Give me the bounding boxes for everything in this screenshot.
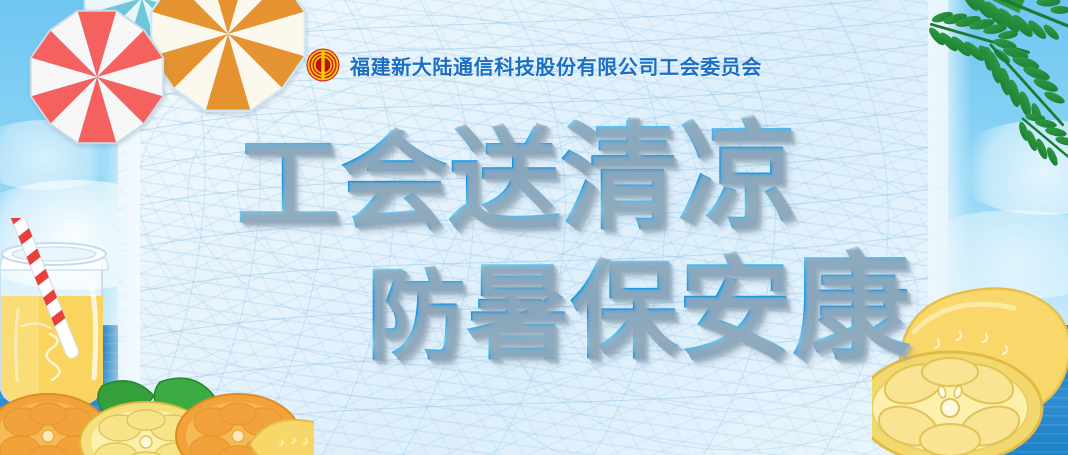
organization-header: 福建新大陆通信科技股份有限公司工会委员会 (0, 48, 1068, 82)
summer-banner: 福建新大陆通信科技股份有限公司工会委员会 工 会 送 清 凉 防 暑 保 安 康 (0, 0, 1068, 455)
lemon-slice-right (872, 282, 1068, 455)
china-trade-union-emblem-icon (306, 48, 340, 82)
lemon-orange-slices-left (0, 368, 314, 455)
organization-name: 福建新大陆通信科技股份有限公司工会委员会 (350, 51, 762, 80)
palm-fronds-icon (872, 0, 1068, 205)
